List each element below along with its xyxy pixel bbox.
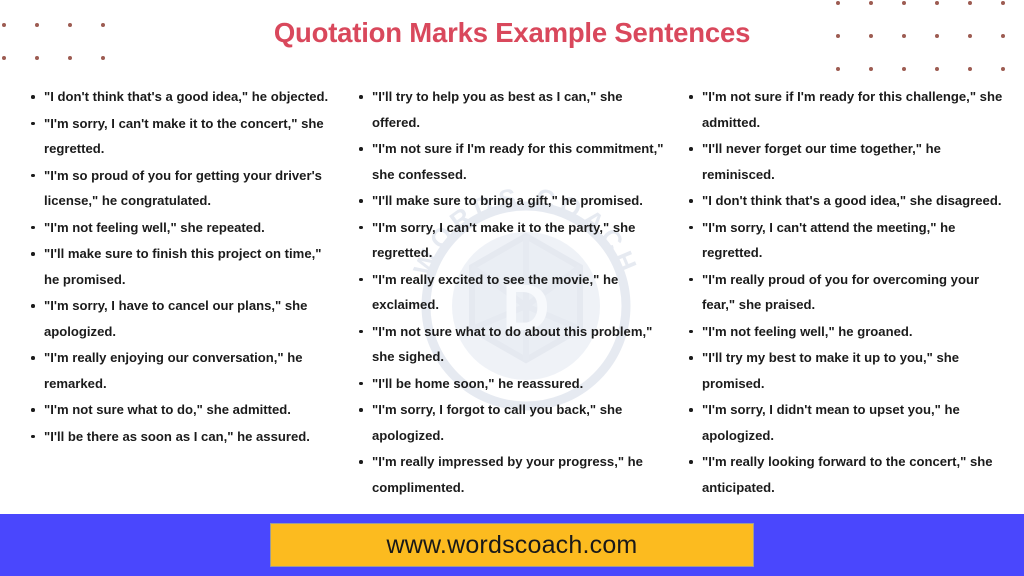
list-item: "I'll be there as soon as I can," he ass… (30, 424, 330, 450)
sentence-columns: "I don't think that's a good idea," he o… (0, 84, 1024, 514)
list-item: "I'll try my best to make it up to you,"… (688, 345, 1010, 396)
sentence-list-1: "I don't think that's a good idea," he o… (30, 84, 330, 449)
dot (869, 52, 902, 85)
sentence-column-1: "I don't think that's a good idea," he o… (0, 84, 338, 450)
list-item: "I'm not sure what to do," she admitted. (30, 397, 330, 423)
list-item: "I'm really excited to see the movie," h… (358, 267, 666, 318)
website-url-badge[interactable]: www.wordscoach.com (270, 523, 754, 567)
sentence-column-2: "I'll try to help you as best as I can,"… (338, 84, 672, 501)
list-item: "I'm not sure if I'm ready for this chal… (688, 84, 1010, 135)
list-item: "I'm sorry, I can't attend the meeting,"… (688, 215, 1010, 266)
list-item: "I'm not sure what to do about this prob… (358, 319, 666, 370)
list-item: "I'm not feeling well," she repeated. (30, 215, 330, 241)
list-item: "I'm really proud of you for overcoming … (688, 267, 1010, 318)
list-item: "I'll try to help you as best as I can,"… (358, 84, 666, 135)
infographic-page: Quotation Marks Example Sentences D WORD… (0, 0, 1024, 576)
page-title: Quotation Marks Example Sentences (0, 17, 1024, 49)
dot (1001, 52, 1024, 85)
list-item: "I don't think that's a good idea," he o… (30, 84, 330, 110)
dot (836, 52, 869, 85)
list-item: "I'll never forget our time together," h… (688, 136, 1010, 187)
list-item: "I'm sorry, I have to cancel our plans,"… (30, 293, 330, 344)
list-item: "I'm not feeling well," he groaned. (688, 319, 1010, 345)
list-item: "I'm not sure if I'm ready for this comm… (358, 136, 666, 187)
dot (968, 52, 1001, 85)
list-item: "I'll be home soon," he reassured. (358, 371, 666, 397)
list-item: "I'm really enjoying our conversation," … (30, 345, 330, 396)
list-item: "I'll make sure to finish this project o… (30, 241, 330, 292)
dot (902, 52, 935, 85)
list-item: "I'm sorry, I didn't mean to upset you,"… (688, 397, 1010, 448)
list-item: "I'm sorry, I forgot to call you back," … (358, 397, 666, 448)
sentence-list-3: "I'm not sure if I'm ready for this chal… (688, 84, 1010, 500)
list-item: "I don't think that's a good idea," she … (688, 188, 1010, 214)
dot (935, 52, 968, 85)
list-item: "I'm sorry, I can't make it to the party… (358, 215, 666, 266)
sentence-column-3: "I'm not sure if I'm ready for this chal… (672, 84, 1024, 501)
list-item: "I'm really looking forward to the conce… (688, 449, 1010, 500)
list-item: "I'm so proud of you for getting your dr… (30, 163, 330, 214)
list-item: "I'm sorry, I can't make it to the conce… (30, 111, 330, 162)
list-item: "I'm really impressed by your progress,"… (358, 449, 666, 500)
footer-bar: www.wordscoach.com (0, 514, 1024, 576)
list-item: "I'll make sure to bring a gift," he pro… (358, 188, 666, 214)
sentence-list-2: "I'll try to help you as best as I can,"… (358, 84, 666, 500)
